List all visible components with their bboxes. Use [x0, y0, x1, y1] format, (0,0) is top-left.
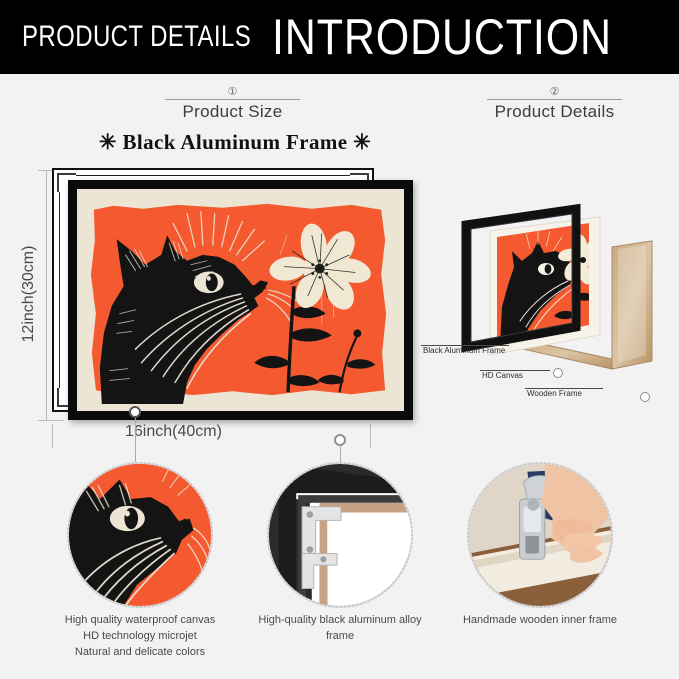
- section-number-2: ②: [487, 86, 622, 98]
- page-header: PRODUCT DETAILS INTRODUCTION: [0, 0, 679, 74]
- header-title: INTRODUCTION: [272, 8, 612, 66]
- callout-marker-wood: [640, 392, 650, 402]
- detail-caption-3: Handmade wooden inner frame: [443, 612, 637, 628]
- detail-circle-3: [467, 462, 613, 608]
- detail-stapling-closeup: Handmade wooden inner frame: [467, 462, 613, 608]
- detail-circle-2: [267, 462, 413, 608]
- section-heading-product-size: ① Product Size: [165, 86, 300, 122]
- section-heading-product-details: ② Product Details: [487, 86, 622, 122]
- exploded-view-svg: [452, 195, 667, 390]
- artwork-canvas: [84, 196, 397, 404]
- caption-line-1-3: Natural and delicate colors: [43, 644, 237, 660]
- caption-line-1-2: HD technology microjet: [43, 628, 237, 644]
- callout-hd-canvas: HD Canvas: [480, 370, 550, 381]
- detail-canvas-closeup: High quality waterproof canvas HD techno…: [67, 462, 213, 608]
- callout-label-1: Black Aluminum Frame: [421, 346, 509, 356]
- callout-label-3: Wooden Frame: [525, 389, 603, 399]
- callout-label-2: HD Canvas: [480, 371, 550, 381]
- cat-face-closeup-svg: [69, 464, 211, 606]
- dimension-height-label: 12inch(30cm): [20, 234, 38, 354]
- artwork-mat: [77, 189, 404, 411]
- main-framed-artwork: [68, 180, 413, 420]
- section-rule-1: [165, 99, 300, 100]
- header-subtitle: PRODUCT DETAILS: [22, 20, 251, 54]
- section-number-1: ①: [165, 86, 300, 98]
- callout-marker-canvas: [553, 368, 563, 378]
- section-label-1: Product Size: [165, 102, 300, 122]
- section-rule-2: [487, 99, 622, 100]
- section-label-2: Product Details: [487, 102, 622, 122]
- caption-line-1-1: High quality waterproof canvas: [43, 612, 237, 628]
- callout-black-aluminum-frame: Black Aluminum Frame: [421, 345, 509, 356]
- dim-tick-bottom: [38, 420, 64, 421]
- detail-circle-1: [67, 462, 213, 608]
- product-detail-infographic: PRODUCT DETAILS INTRODUCTION ① Product S…: [0, 0, 679, 679]
- pin-head-1: [129, 406, 141, 418]
- cat-flower-illustration: [84, 196, 397, 404]
- detail-frame-corner-closeup: High-quality black aluminum alloy frame: [267, 462, 413, 608]
- detail-caption-1: High quality waterproof canvas HD techno…: [43, 612, 237, 660]
- pin-head-2: [334, 434, 346, 446]
- stapling-closeup-svg: [469, 464, 611, 606]
- caption-line-3-1: Handmade wooden inner frame: [443, 612, 637, 628]
- detail-caption-2: High-quality black aluminum alloy frame: [243, 612, 437, 644]
- callout-wooden-frame: Wooden Frame: [525, 388, 603, 399]
- frame-corner-closeup-svg: [269, 464, 411, 606]
- dim-tick-left: [52, 424, 53, 448]
- dim-line-vertical: [46, 170, 47, 421]
- caption-line-2-1: High-quality black aluminum alloy frame: [243, 612, 437, 644]
- frame-title: ✳ Black Aluminum Frame ✳: [0, 130, 470, 155]
